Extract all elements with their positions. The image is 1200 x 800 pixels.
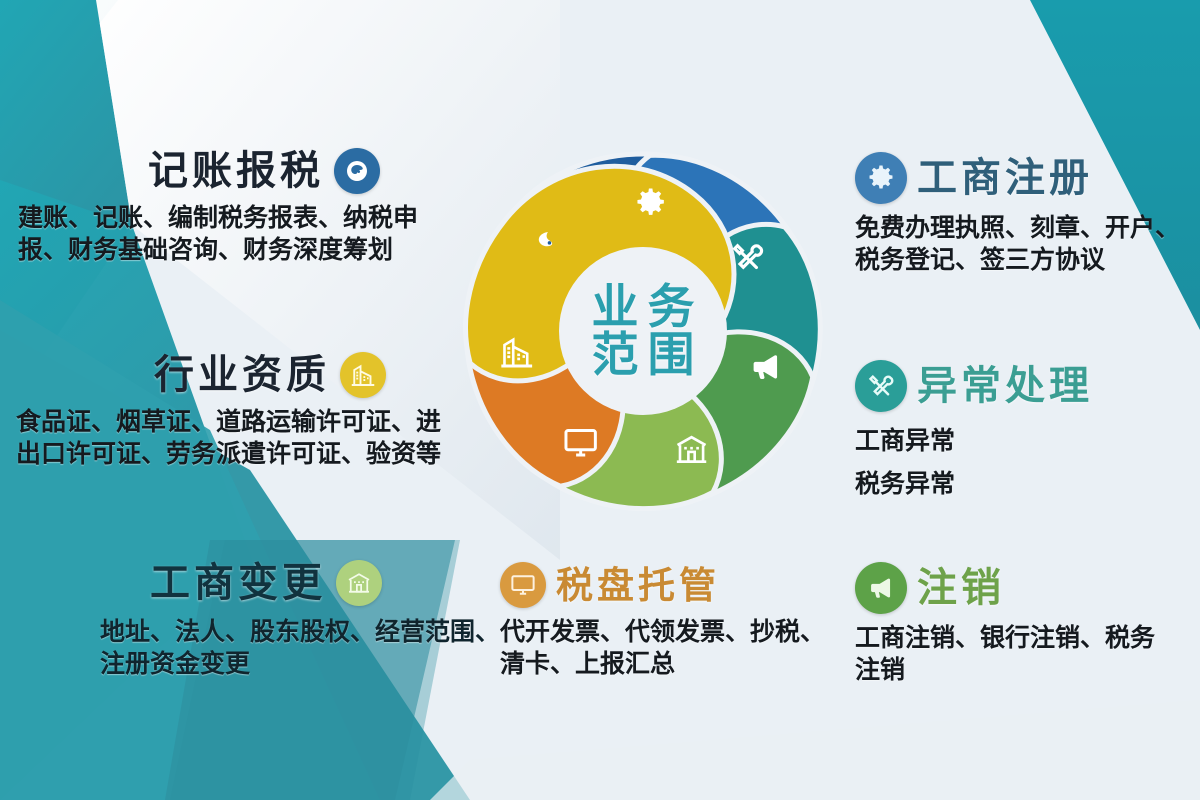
service-exception-handling-title: 异常处理 — [917, 366, 1093, 406]
service-deregistration-desc: 工商注销、银行注销、税务注销 — [855, 622, 1155, 686]
service-tax-disk-hosting-title: 税盘托管 — [556, 567, 720, 604]
storefront-icon — [336, 560, 382, 606]
business-scope-wheel: 业务 范围 — [452, 140, 834, 522]
service-industry-qualification-desc: 食品证、烟草证、道路运输许可证、进出口许可证、劳务派遣许可证、验资等 — [8, 406, 453, 470]
service-tax-disk-hosting-header: 税盘托管 — [500, 562, 830, 608]
wheel-center-disc — [559, 247, 727, 415]
service-business-change[interactable]: 工商变更 地址、法人、股东股权、经营范围、注册资金变更 — [100, 560, 500, 680]
service-industry-qualification[interactable]: 行业资质 食品证、烟草证、道路运输许可证、进出口许可证、劳务派遣许可证、验资等 — [8, 352, 438, 470]
service-tax-disk-hosting[interactable]: 税盘托管 代开发票、代领发票、抄税、清卡、上报汇总 — [500, 562, 830, 680]
service-bookkeeping-title: 记账报税 — [148, 151, 324, 191]
service-bookkeeping-desc: 建账、记账、编制税务报表、纳税申报、财务基础咨询、财务深度筹划 — [8, 202, 448, 266]
service-deregistration-header: 注销 — [855, 562, 1195, 614]
monitor-icon — [500, 562, 546, 608]
wheel-svg — [452, 140, 834, 522]
service-business-registration-title: 工商注册 — [917, 158, 1093, 198]
service-business-registration-header: 工商注册 — [855, 152, 1195, 204]
service-deregistration[interactable]: 注销 工商注销、银行注销、税务注销 — [855, 562, 1195, 686]
service-tax-disk-hosting-desc: 代开发票、代领发票、抄税、清卡、上报汇总 — [500, 616, 830, 680]
service-exception-handling-desc-line2: 税务异常 — [855, 463, 1195, 506]
service-business-change-title: 工商变更 — [150, 563, 326, 603]
service-business-change-header: 工商变更 — [100, 560, 500, 606]
service-business-registration-desc: 免费办理执照、刻章、开户、税务登记、签三方协议 — [855, 212, 1195, 276]
service-exception-handling-desc-line1: 工商异常 — [855, 420, 1195, 463]
service-industry-qualification-header: 行业资质 — [8, 352, 438, 398]
service-business-registration[interactable]: 工商注册 免费办理执照、刻章、开户、税务登记、签三方协议 — [855, 152, 1195, 276]
service-business-change-desc: 地址、法人、股东股权、经营范围、注册资金变更 — [100, 616, 500, 680]
building-icon — [340, 352, 386, 398]
service-industry-qualification-title: 行业资质 — [154, 355, 330, 395]
service-exception-handling[interactable]: 异常处理 工商异常 税务异常 — [855, 360, 1195, 505]
service-deregistration-title: 注销 — [917, 568, 1005, 608]
gear-icon — [855, 152, 907, 204]
bookkeeping-circle-icon — [334, 148, 380, 194]
tools-icon — [855, 360, 907, 412]
wheel-gear-icon — [637, 189, 663, 215]
service-bookkeeping[interactable]: 记账报税 建账、记账、编制税务报表、纳税申报、财务基础咨询、财务深度筹划 — [8, 148, 438, 266]
service-bookkeeping-header: 记账报税 — [8, 148, 438, 194]
megaphone-icon — [855, 562, 907, 614]
service-exception-handling-header: 异常处理 — [855, 360, 1195, 412]
